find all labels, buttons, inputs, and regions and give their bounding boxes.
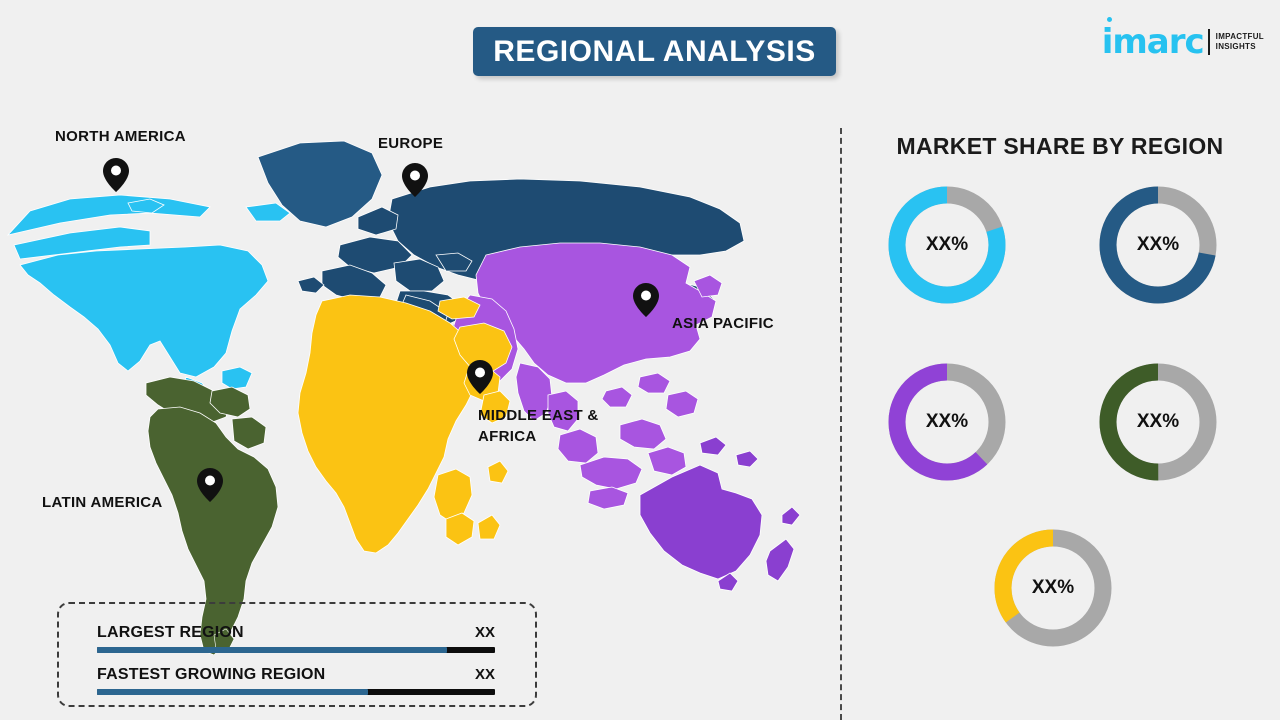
map-pin-north-america[interactable] [103, 158, 129, 192]
legend-bar-largest-region [97, 647, 495, 653]
region-label-europe: EUROPE [378, 133, 443, 154]
region-label-middle-east-africa: MIDDLE EAST & AFRICA [478, 405, 599, 447]
imarc-logo: imarc IMPACTFUL INSIGHTS [1102, 22, 1264, 62]
page-title: REGIONAL ANALYSIS [493, 35, 815, 69]
donut-north-america: XX% [883, 181, 1011, 309]
legend-value-largest-region: XX [475, 624, 495, 641]
map-region-north-america [8, 195, 290, 413]
logo-tagline-line2: INSIGHTS [1216, 42, 1264, 52]
map-pin-latin-america[interactable] [197, 468, 223, 502]
donut-label-asia-pacific: XX% [883, 358, 1011, 486]
legend-value-fastest-growing-region: XX [475, 666, 495, 683]
logo-tagline-line1: IMPACTFUL [1216, 32, 1264, 42]
legend-label-largest-region: LARGEST REGION [97, 624, 244, 642]
logo-wordmark: imarc [1102, 25, 1204, 59]
region-label-latin-america: LATIN AMERICA [42, 492, 163, 513]
legend-bar-fill-largest-region [97, 647, 447, 653]
logo-dot-icon [1107, 17, 1112, 22]
logo-divider [1208, 29, 1210, 55]
legend-bar-fastest-growing-region [97, 689, 495, 695]
page-title-banner: REGIONAL ANALYSIS [473, 27, 836, 76]
market-share-title: MARKET SHARE BY REGION [840, 133, 1280, 160]
donut-label-europe: XX% [1094, 181, 1222, 309]
legend-row-largest-region: LARGEST REGION XX [97, 624, 495, 653]
map-pin-europe[interactable] [402, 163, 428, 197]
donut-asia-pacific: XX% [883, 358, 1011, 486]
donut-europe: XX% [1094, 181, 1222, 309]
legend-row-fastest-growing-region: FASTEST GROWING REGION XX [97, 666, 495, 695]
region-label-asia-pacific: ASIA PACIFIC [672, 313, 774, 334]
donut-latin-america: XX% [1094, 358, 1222, 486]
donut-label-north-america: XX% [883, 181, 1011, 309]
legend-label-fastest-growing-region: FASTEST GROWING REGION [97, 666, 325, 684]
region-label-north-america: NORTH AMERICA [55, 126, 186, 147]
donut-middle-east-africa: XX% [989, 524, 1117, 652]
logo-tagline: IMPACTFUL INSIGHTS [1216, 32, 1264, 52]
donut-label-middle-east-africa: XX% [989, 524, 1117, 652]
infographic-page: REGIONAL ANALYSIS imarc IMPACTFUL INSIGH… [0, 0, 1280, 720]
map-pin-asia-pacific[interactable] [633, 283, 659, 317]
legend-box: LARGEST REGION XX FASTEST GROWING REGION… [57, 602, 537, 707]
map-pin-middle-east-africa[interactable] [467, 360, 493, 394]
donut-label-latin-america: XX% [1094, 358, 1222, 486]
panel-divider [840, 128, 842, 720]
legend-bar-fill-fastest-growing-region [97, 689, 368, 695]
